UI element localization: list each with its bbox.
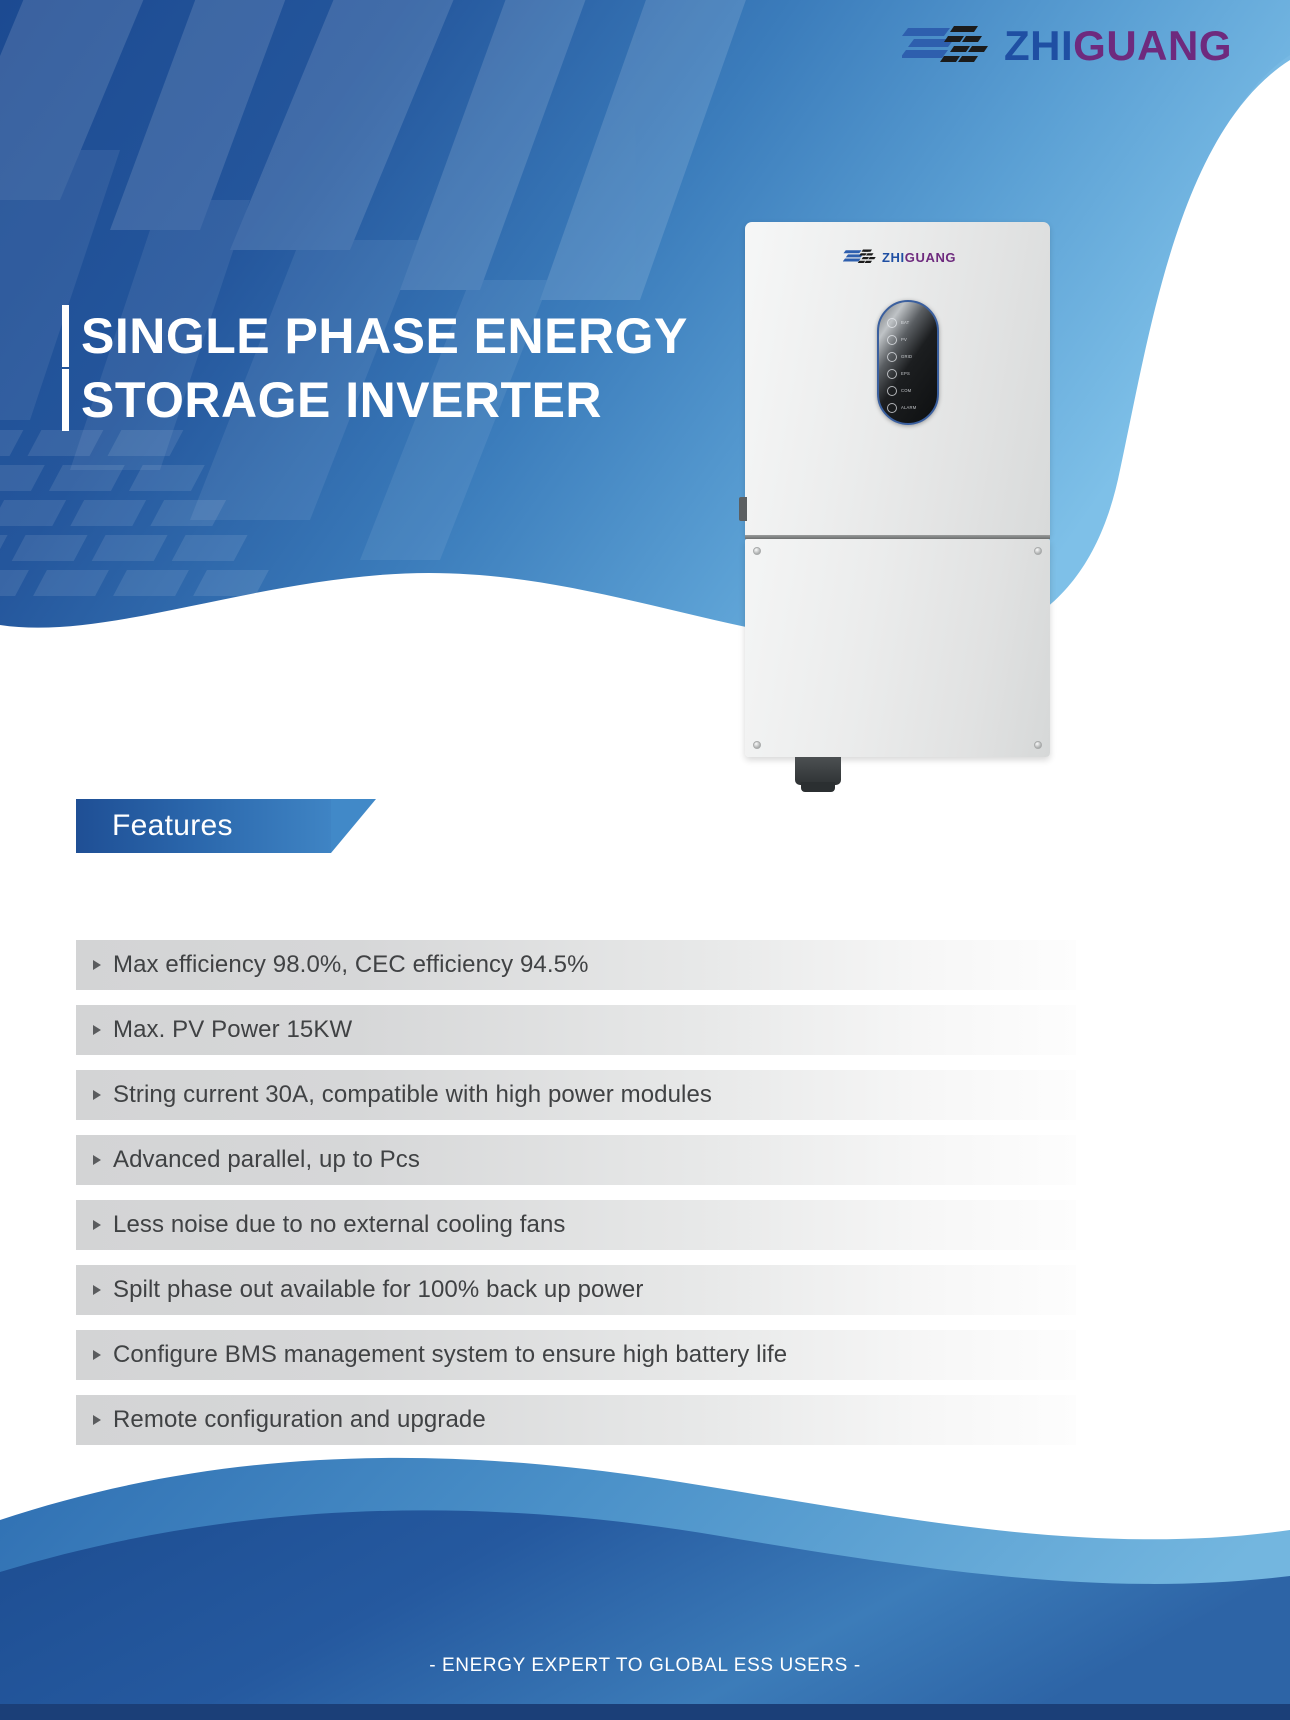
feature-label: String current 30A, compatible with high…: [113, 1081, 712, 1109]
feature-label: Less noise due to no external cooling fa…: [113, 1211, 566, 1239]
product-word-zhi: ZHI: [882, 250, 905, 265]
screw-icon: [753, 741, 761, 749]
indicator-label: PV: [901, 337, 907, 342]
indicator-label: GRID: [901, 354, 912, 359]
indicator-list: BAT PV GRID EPS COM: [887, 314, 939, 416]
grid-icon: [887, 352, 897, 362]
feature-label: Remote configuration and upgrade: [113, 1406, 486, 1434]
triangle-bullet-icon: [93, 1350, 101, 1360]
feature-item: Spilt phase out available for 100% back …: [76, 1265, 1076, 1315]
product-wordmark: ZHIGUANG: [882, 250, 956, 265]
indicator-label: COM: [901, 388, 911, 393]
triangle-bullet-icon: [93, 1155, 101, 1165]
zhiguang-stripes-logo-icon: [843, 248, 877, 266]
triangle-bullet-icon: [93, 1415, 101, 1425]
indicator-row: ALARM: [887, 399, 939, 416]
screw-icon: [1034, 547, 1042, 555]
feature-label: Spilt phase out available for 100% back …: [113, 1276, 643, 1304]
alarm-icon: [887, 403, 897, 413]
brand-logo: ZHIGUANG: [902, 22, 1232, 70]
feature-label: Max efficiency 98.0%, CEC efficiency 94.…: [113, 951, 589, 979]
feature-item: Configure BMS management system to ensur…: [76, 1330, 1076, 1380]
features-list: Max efficiency 98.0%, CEC efficiency 94.…: [76, 940, 1076, 1460]
indicator-row: EPS: [887, 365, 939, 382]
features-banner-arrow: [331, 799, 376, 853]
indicator-row: BAT: [887, 314, 939, 331]
product-side-tab: [739, 497, 747, 521]
product-lower-housing: [745, 539, 1050, 757]
indicator-row: GRID: [887, 348, 939, 365]
zhiguang-stripes-logo-icon: [902, 22, 990, 70]
comm-icon: [887, 386, 897, 396]
feature-item: Remote configuration and upgrade: [76, 1395, 1076, 1445]
triangle-bullet-icon: [93, 1025, 101, 1035]
triangle-bullet-icon: [93, 1090, 101, 1100]
features-banner: Features: [76, 799, 376, 853]
indicator-label: BAT: [901, 320, 909, 325]
footer-bottom-bar: [0, 1704, 1290, 1720]
title-text-line-2: STORAGE INVERTER: [81, 369, 602, 431]
pv-panel-icon: [887, 335, 897, 345]
feature-label: Advanced parallel, up to Pcs: [113, 1146, 420, 1174]
brand-word-guang: GUANG: [1073, 22, 1232, 69]
feature-item: Max efficiency 98.0%, CEC efficiency 94.…: [76, 940, 1076, 990]
feature-label: Max. PV Power 15KW: [113, 1016, 352, 1044]
screw-icon: [1034, 741, 1042, 749]
indicator-label: EPS: [901, 371, 910, 376]
feature-item: Advanced parallel, up to Pcs: [76, 1135, 1076, 1185]
eps-icon: [887, 369, 897, 379]
product-brand-logo: ZHIGUANG: [843, 248, 956, 266]
features-banner-label: Features: [112, 808, 233, 844]
product-word-guang: GUANG: [905, 250, 956, 265]
cable-gland: [795, 757, 841, 785]
footer-tagline: - ENERGY EXPERT TO GLOBAL ESS USERS -: [0, 1655, 1290, 1677]
title-line-2: STORAGE INVERTER: [62, 369, 822, 431]
inverter-display-panel: BAT PV GRID EPS COM: [877, 300, 939, 425]
feature-label: Configure BMS management system to ensur…: [113, 1341, 787, 1369]
screw-icon: [753, 547, 761, 555]
feature-item: Less noise due to no external cooling fa…: [76, 1200, 1076, 1250]
triangle-bullet-icon: [93, 1220, 101, 1230]
feature-item: Max. PV Power 15KW: [76, 1005, 1076, 1055]
title-accent-bar: [62, 369, 69, 431]
indicator-label: ALARM: [901, 405, 916, 410]
cable-gland-tip: [801, 782, 835, 792]
title-accent-bar: [62, 305, 69, 367]
title-text-line-1: SINGLE PHASE ENERGY: [81, 305, 688, 367]
triangle-bullet-icon: [93, 1285, 101, 1295]
indicator-row: COM: [887, 382, 939, 399]
feature-item: String current 30A, compatible with high…: [76, 1070, 1076, 1120]
brand-wordmark: ZHIGUANG: [1004, 24, 1232, 68]
page-title: SINGLE PHASE ENERGY STORAGE INVERTER: [62, 305, 822, 433]
indicator-row: PV: [887, 331, 939, 348]
title-line-1: SINGLE PHASE ENERGY: [62, 305, 822, 367]
battery-icon: [887, 318, 897, 328]
triangle-bullet-icon: [93, 960, 101, 970]
brand-word-zhi: ZHI: [1004, 22, 1073, 69]
